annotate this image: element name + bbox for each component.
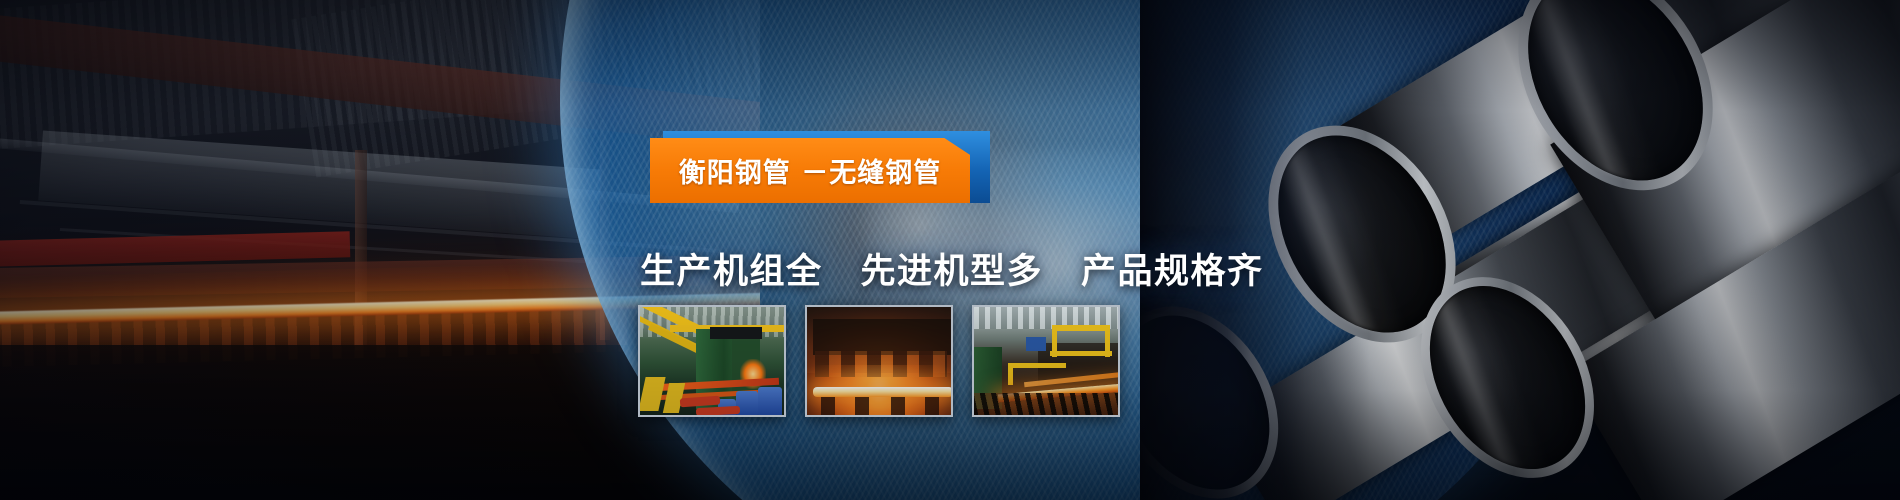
platform-post [1008, 367, 1013, 385]
headline-part-2: 先进机型多 [861, 252, 1044, 292]
thumbnail-hot-billet-furnace[interactable] [805, 305, 953, 417]
thumbnail-steel-workshop-line[interactable] [972, 305, 1120, 417]
equipment-foreground [974, 393, 1118, 417]
headline-part-1: 生产机组全 [640, 252, 823, 292]
headline: 生产机组全先进机型多产品规格齐 [640, 243, 1264, 294]
blue-motor [758, 387, 782, 417]
roller [821, 397, 835, 417]
furnace-housing [813, 319, 953, 355]
thumbnail-rolling-mill-line[interactable] [638, 305, 786, 417]
brand-tag-label: 衡阳钢管 －无缝钢管 [679, 151, 941, 190]
roller [855, 397, 869, 417]
blue-unit [1026, 337, 1046, 351]
brand-tag-plate: 衡阳钢管 －无缝钢管 [650, 138, 970, 203]
blue-motor [736, 391, 758, 417]
hot-billet [813, 387, 953, 397]
headline-part-3: 产品规格齐 [1081, 252, 1264, 292]
yellow-platform [1052, 325, 1110, 331]
brand-tag[interactable]: 衡阳钢管 －无缝钢管 [650, 131, 990, 209]
thumbnail-image [640, 307, 784, 415]
thumbnail-image [974, 307, 1118, 415]
thumbnail-strip [638, 305, 1120, 417]
banner-content: 衡阳钢管 －无缝钢管 生产机组全先进机型多产品规格齐 [0, 0, 1900, 500]
yellow-guard [638, 377, 665, 411]
yellow-platform [1050, 351, 1112, 356]
roller [891, 397, 905, 417]
yellow-platform [1008, 363, 1066, 368]
mill-cap [710, 327, 762, 339]
roller [925, 397, 939, 417]
promo-banner: 衡阳钢管 －无缝钢管 生产机组全先进机型多产品规格齐 [0, 0, 1900, 500]
thumbnail-image [807, 307, 951, 415]
